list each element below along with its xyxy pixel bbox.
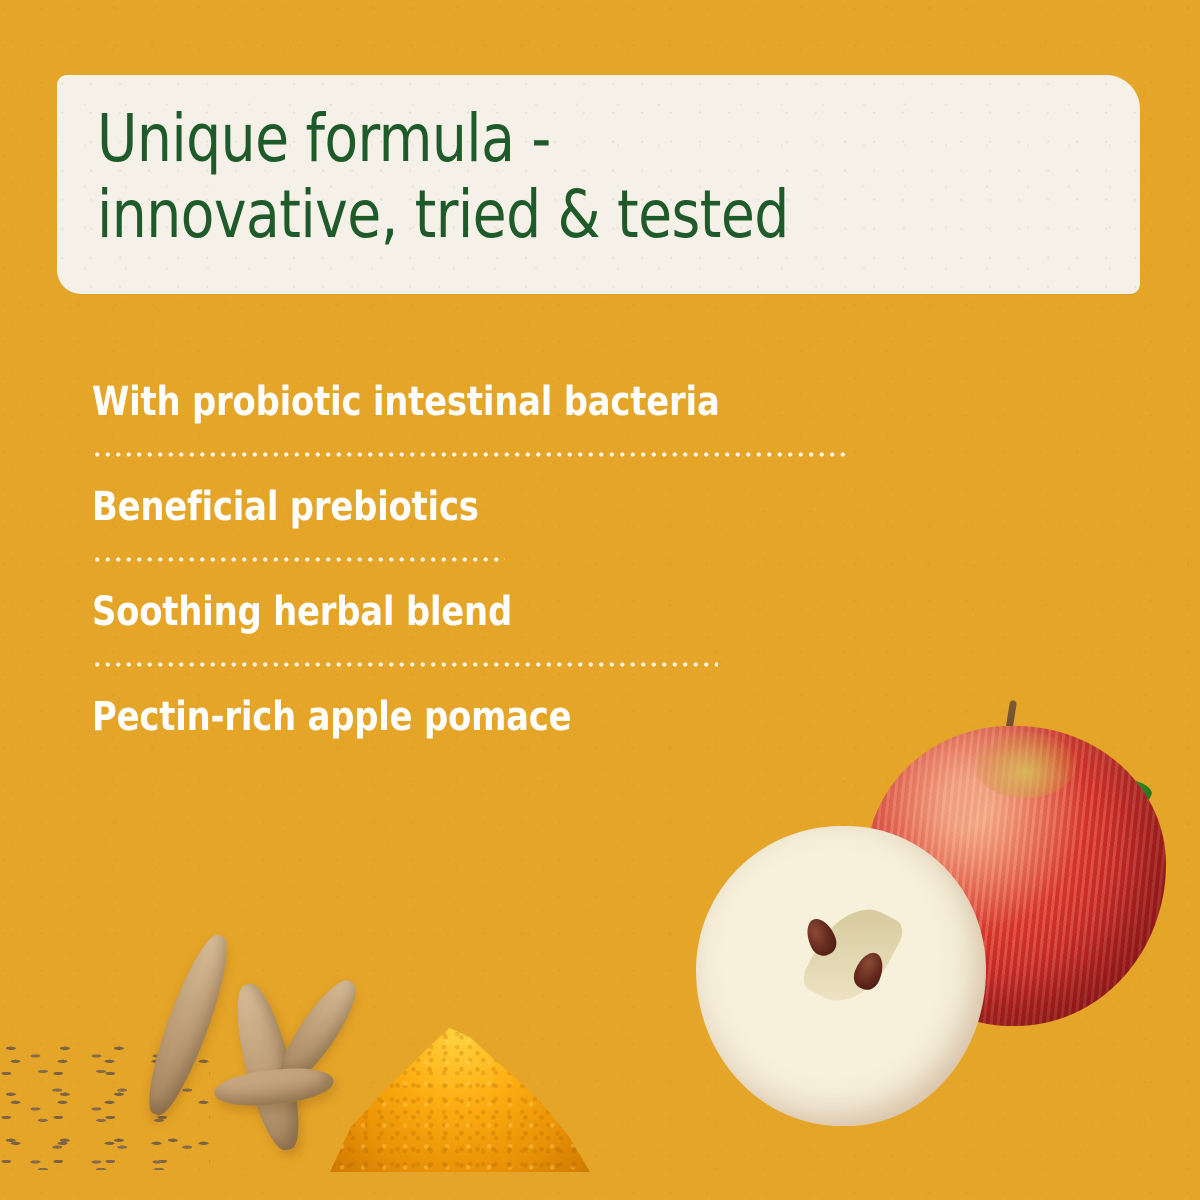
apple-seed bbox=[801, 914, 840, 959]
benefit-label-probiotics: With probiotic intestinal bacteria bbox=[92, 378, 938, 426]
benefit-label-prebiotics: Beneficial prebiotics bbox=[92, 483, 938, 531]
apple-photo bbox=[686, 698, 1200, 1148]
caraway-seeds bbox=[0, 1040, 210, 1170]
apple-stem-icon bbox=[998, 700, 1017, 778]
turmeric-root bbox=[213, 1064, 336, 1110]
turmeric-photo bbox=[0, 920, 630, 1200]
benefit-list: With probiotic intestinal bacteria Benef… bbox=[92, 378, 992, 741]
list-item: Soothing herbal blend bbox=[92, 588, 992, 667]
halved-apple bbox=[696, 826, 986, 1126]
benefit-divider bbox=[92, 557, 505, 562]
list-item: Beneficial prebiotics bbox=[92, 483, 992, 562]
list-item: With probiotic intestinal bacteria bbox=[92, 378, 992, 457]
benefit-divider bbox=[92, 662, 718, 667]
benefit-label-apple-pomace: Pectin-rich apple pomace bbox=[92, 693, 938, 741]
turmeric-root bbox=[270, 972, 367, 1092]
headline-card: Unique formula - innovative, tried & tes… bbox=[57, 75, 1140, 294]
page-title: Unique formula - innovative, tried & tes… bbox=[97, 101, 1036, 253]
turmeric-root bbox=[137, 929, 240, 1121]
whole-apple bbox=[866, 726, 1166, 1026]
benefit-divider bbox=[92, 452, 845, 457]
apple-core bbox=[798, 894, 907, 1017]
list-item: Pectin-rich apple pomace bbox=[92, 693, 992, 741]
turmeric-root bbox=[226, 979, 310, 1155]
apple-seed bbox=[850, 949, 888, 994]
turmeric-powder-mound bbox=[330, 1012, 590, 1172]
promo-graphic: Unique formula - innovative, tried & tes… bbox=[0, 0, 1200, 1200]
benefit-label-herbal-blend: Soothing herbal blend bbox=[92, 588, 938, 636]
